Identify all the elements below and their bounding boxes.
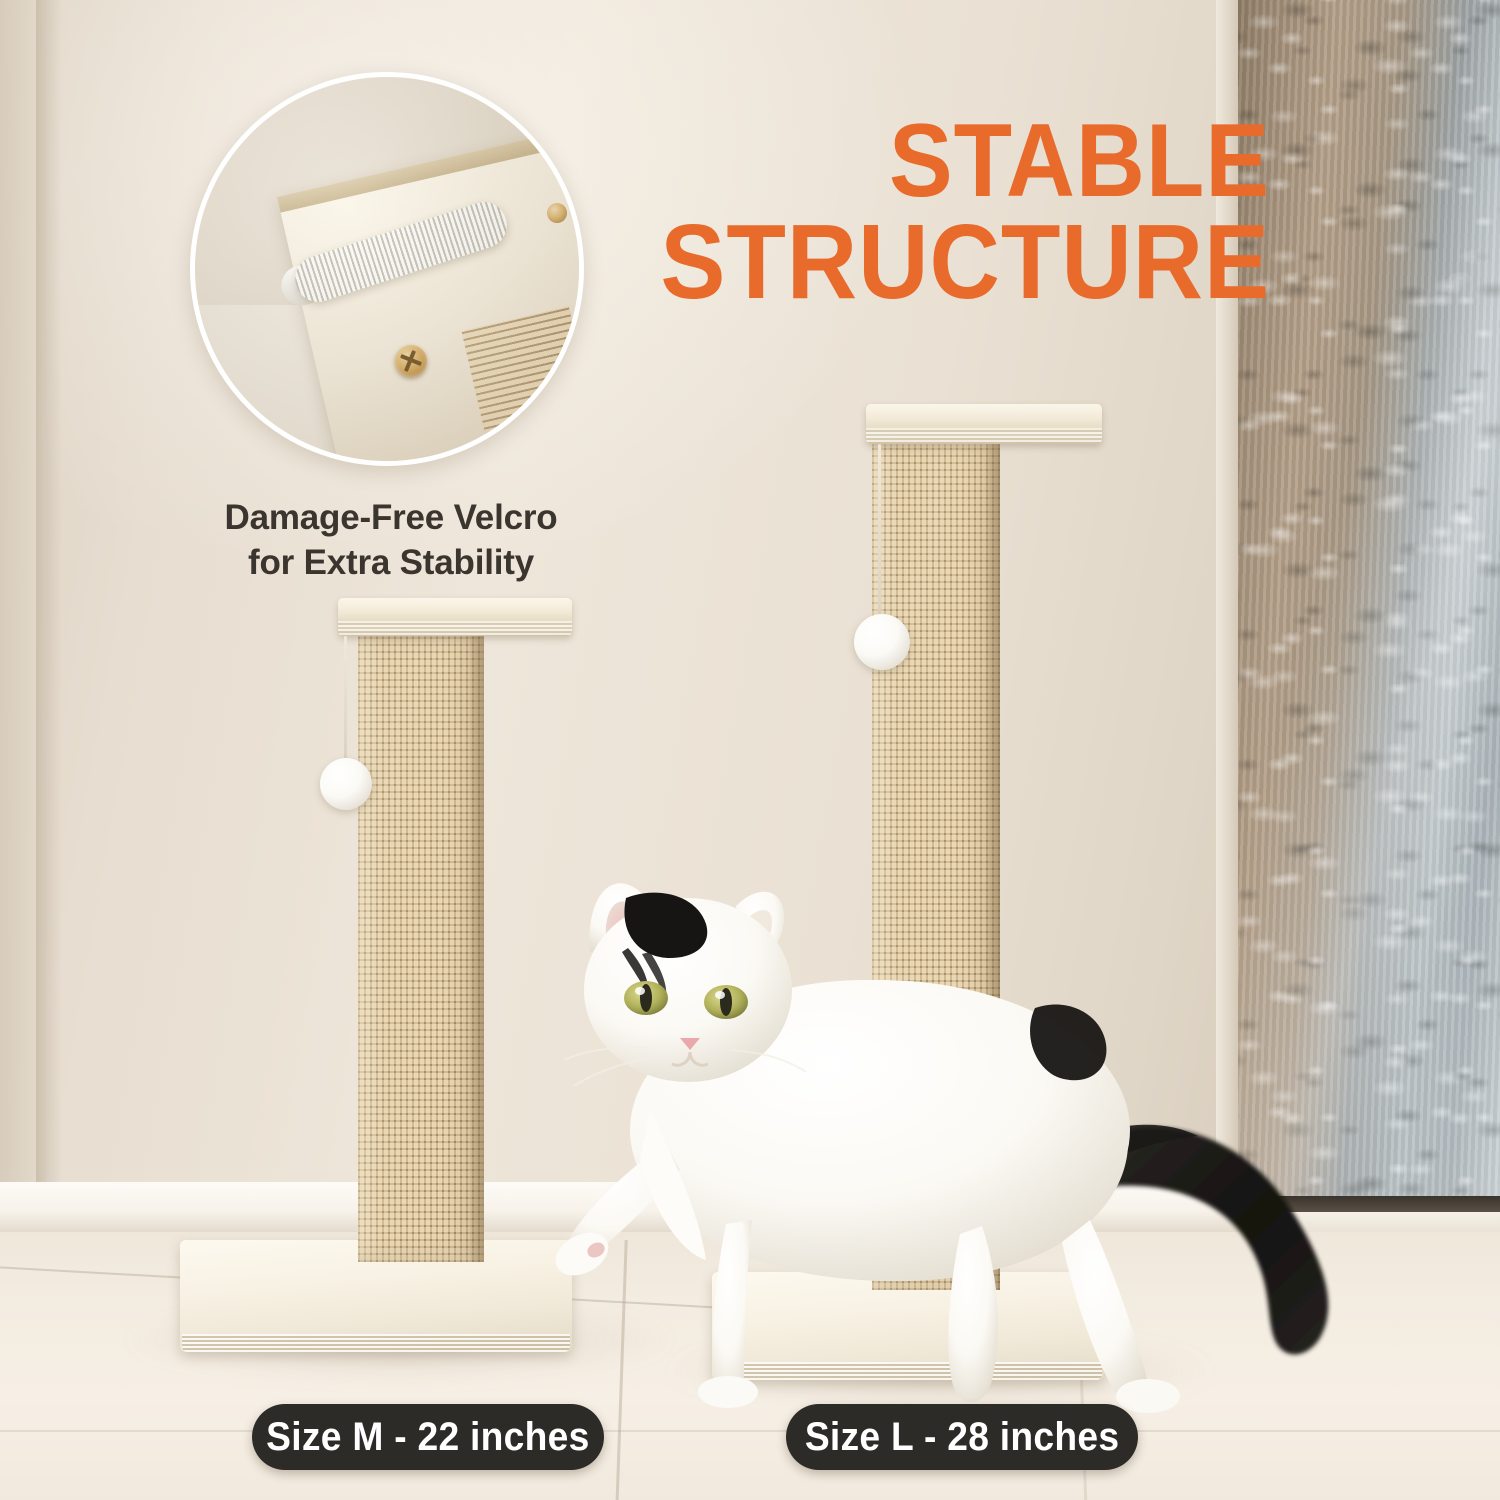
headline: STABLE STRUCTURE bbox=[654, 112, 1270, 314]
velcro-caption-line2: for Extra Stability bbox=[196, 541, 586, 586]
pom-pom-ball-icon bbox=[854, 614, 910, 670]
white-cat bbox=[530, 840, 1390, 1440]
wall-corner-shadow bbox=[36, 0, 62, 1190]
cat-head bbox=[564, 883, 806, 1086]
pom-pom-ball-icon bbox=[320, 758, 372, 810]
velcro-caption-line1: Damage-Free Velcro bbox=[196, 496, 586, 541]
headline-line1: STABLE bbox=[889, 103, 1270, 219]
cat-front-leg bbox=[712, 1220, 752, 1402]
toy-string-large bbox=[878, 444, 881, 626]
post-cap-large bbox=[866, 404, 1102, 444]
cat-rear-paw bbox=[1116, 1379, 1180, 1413]
velcro-detail-inset bbox=[190, 72, 584, 466]
sisal-column-medium bbox=[358, 632, 484, 1262]
product-marketing-image: Damage-Free Velcro for Extra Stability S… bbox=[0, 0, 1500, 1500]
headline-line2: STRUCTURE bbox=[654, 212, 1270, 314]
size-badge-medium: Size M - 22 inches bbox=[252, 1404, 604, 1470]
size-badge-large: Size L - 28 inches bbox=[786, 1404, 1138, 1470]
brass-screw-secondary-icon bbox=[547, 203, 567, 223]
brass-screw-icon bbox=[395, 345, 427, 377]
velcro-caption: Damage-Free Velcro for Extra Stability bbox=[196, 496, 586, 586]
sisal-side-shadow bbox=[470, 632, 484, 1262]
size-badge-medium-label: Size M - 22 inches bbox=[266, 1415, 589, 1460]
post-cap-medium bbox=[338, 598, 572, 636]
toy-string-medium bbox=[344, 636, 347, 772]
size-badge-large-label: Size L - 28 inches bbox=[805, 1415, 1119, 1460]
